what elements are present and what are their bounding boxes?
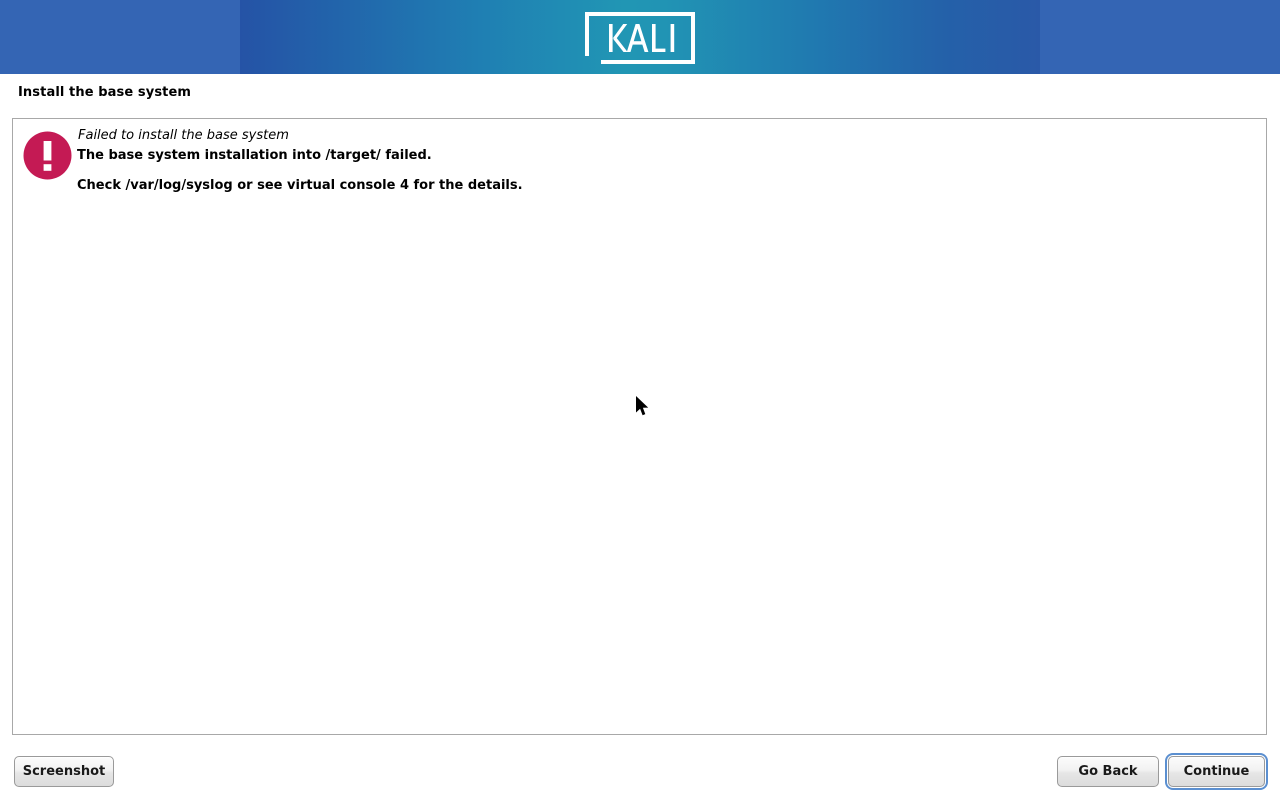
error-exclamation-icon	[23, 131, 72, 180]
page-title: Install the base system	[18, 85, 191, 100]
error-message: The base system installation into /targe…	[77, 147, 1177, 165]
kali-dragon-frame-logo	[583, 10, 697, 66]
kali-logo	[583, 10, 697, 66]
go-back-button[interactable]: Go Back	[1057, 756, 1159, 787]
screenshot-button[interactable]: Screenshot	[14, 756, 114, 787]
error-text-block: Failed to install the base system The ba…	[77, 127, 1177, 195]
continue-button[interactable]: Continue	[1168, 756, 1265, 787]
error-heading: Failed to install the base system	[77, 127, 1177, 144]
installer-banner	[0, 0, 1280, 74]
error-detail: Check /var/log/syslog or see virtual con…	[77, 177, 1177, 195]
content-panel: Failed to install the base system The ba…	[12, 118, 1267, 735]
